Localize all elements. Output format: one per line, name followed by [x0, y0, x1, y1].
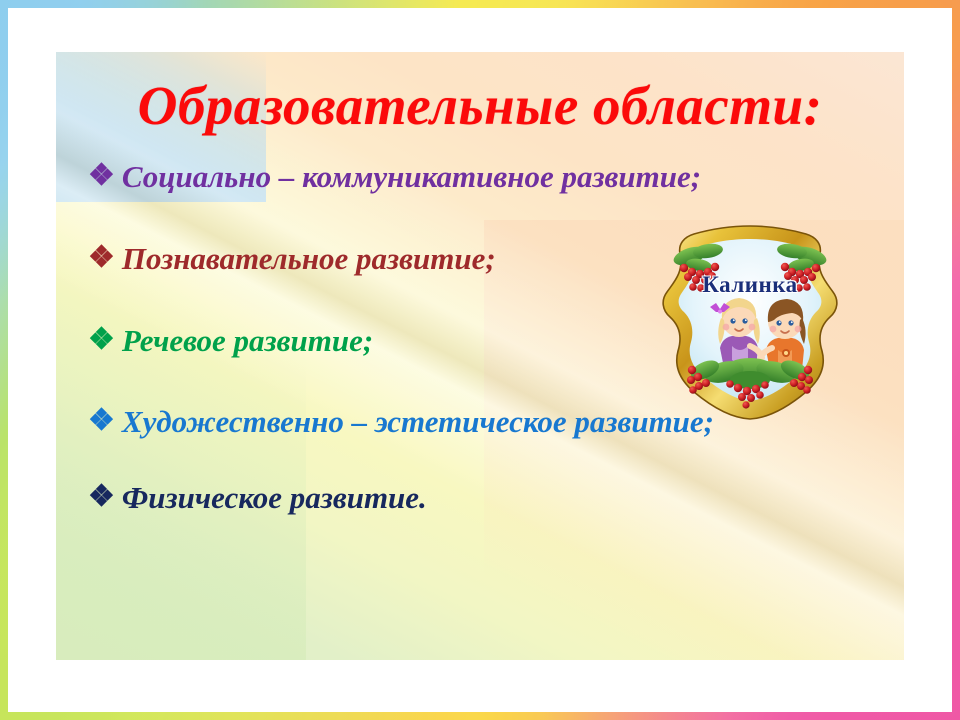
list-item: ❖ Речевое развитие;: [88, 322, 728, 360]
list-item-label: Физическое развитие.: [122, 479, 728, 517]
list-item-label: Социально – коммуникативное развитие;: [122, 158, 728, 196]
list-item-label: Речевое развитие;: [122, 322, 728, 360]
educational-areas-list: ❖ Социально – коммуникативное развитие; …: [88, 158, 728, 517]
page-title: Образовательные области:: [56, 74, 904, 137]
diamond-bullet-icon: ❖: [88, 403, 115, 440]
kindergarten-emblem: Калинка: [650, 220, 850, 425]
list-item-label: Художественно – эстетическое развитие;: [122, 403, 728, 441]
diamond-bullet-icon: ❖: [88, 240, 115, 277]
list-item: ❖ Познавательное развитие;: [88, 240, 728, 278]
list-item-label: Познавательное развитие;: [122, 240, 728, 278]
diamond-bullet-icon: ❖: [88, 158, 115, 195]
slide: Образовательные области: ❖ Социально – к…: [0, 0, 960, 720]
shield-crest-icon: [650, 220, 850, 425]
diamond-bullet-icon: ❖: [88, 479, 115, 516]
list-item: ❖ Художественно – эстетическое развитие;: [88, 403, 728, 441]
list-item: ❖ Социально – коммуникативное развитие;: [88, 158, 728, 196]
diamond-bullet-icon: ❖: [88, 322, 115, 359]
list-item: ❖ Физическое развитие.: [88, 479, 728, 517]
emblem-name-label: Калинка: [650, 272, 850, 298]
